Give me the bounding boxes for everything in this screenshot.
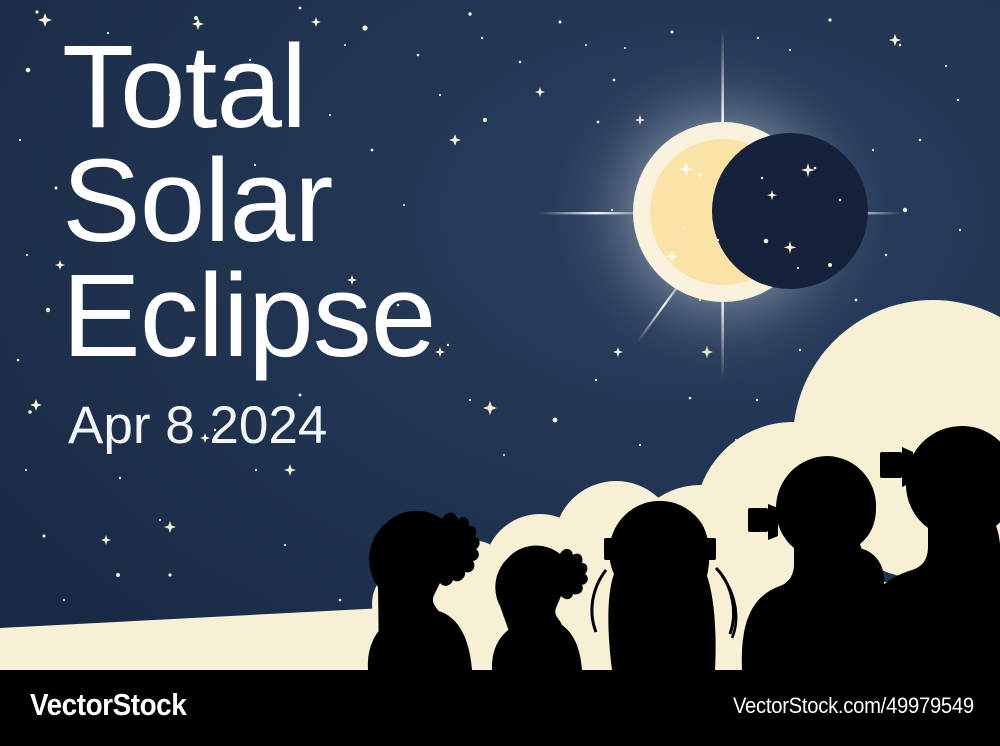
eclipse-glasses-man [880,452,902,478]
star-dot-icon [339,599,342,602]
star-dot-icon [17,359,20,362]
star-dot-icon [63,599,65,601]
star-dot-icon [28,410,32,414]
star-dot-icon [344,44,346,46]
star-dot-icon [553,418,558,423]
star-dot-icon [35,10,38,13]
star-dot-icon [671,31,674,34]
star-dot-icon [26,68,31,73]
star-dot-icon [194,16,198,20]
star-dot-icon [468,12,471,15]
star-dot-icon [481,37,483,39]
eclipse-glasses-woman [748,508,768,532]
star-dot-icon [169,94,171,96]
star-dot-icon [255,469,257,471]
star-dot-icon [595,379,597,381]
star-dot-icon [249,59,251,61]
star-dot-icon [945,65,947,67]
star-dot-icon [299,7,302,10]
star-dot-icon [585,44,587,46]
star-dot-icon [254,164,256,166]
star-dot-icon [919,139,922,142]
star-dot-icon [55,187,58,190]
star-dot-icon [397,304,400,307]
star-dot-icon [284,544,286,546]
eclipse-illustration [0,0,1000,670]
star-dot-icon [116,573,120,577]
star-dot-icon [403,204,405,206]
star-dot-icon [959,229,961,231]
star-dot-icon [519,61,522,64]
star-dot-icon [107,32,109,34]
star-dot-icon [503,454,505,456]
star-dot-icon [46,308,50,312]
star-dot-icon [19,139,21,141]
eclipse-glasses-right [700,538,716,560]
star-dot-icon [43,535,46,538]
eclipse-glasses-left [604,538,620,560]
watermark-footer: VectorStock VectorStock.com/49979549 [0,670,1000,746]
star-dot-icon [299,394,302,397]
star-dot-icon [828,18,831,21]
star-dot-icon [371,149,374,152]
star-dot-icon [159,519,161,521]
star-dot-icon [329,114,331,116]
star-dot-icon [119,477,121,479]
star-dot-icon [639,444,641,446]
star-dot-icon [362,25,367,30]
star-dot-icon [349,349,351,351]
star-dot-icon [417,54,420,57]
vectorstock-logo: VectorStock [30,687,186,723]
moon-disc-icon [712,133,868,289]
star-dot-icon [26,254,28,256]
star-dot-icon [689,397,692,400]
star-dot-icon [168,573,171,576]
star-dot-icon [899,44,902,47]
star-dot-icon [25,469,27,471]
star-dot-icon [469,399,471,401]
star-dot-icon [439,94,441,96]
star-dot-icon [447,344,449,346]
star-dot-icon [214,429,216,431]
star-dot-icon [957,99,959,101]
poster-canvas: Total Solar Eclipse Apr 8 2024 VectorSto… [0,0,1000,746]
scene-svg [0,0,1000,670]
vectorstock-credit: VectorStock.com/49979549 [733,693,974,719]
star-dot-icon [756,399,758,401]
star-dot-icon [483,118,487,122]
star-dot-icon [559,21,562,24]
star-dot-icon [624,47,626,49]
